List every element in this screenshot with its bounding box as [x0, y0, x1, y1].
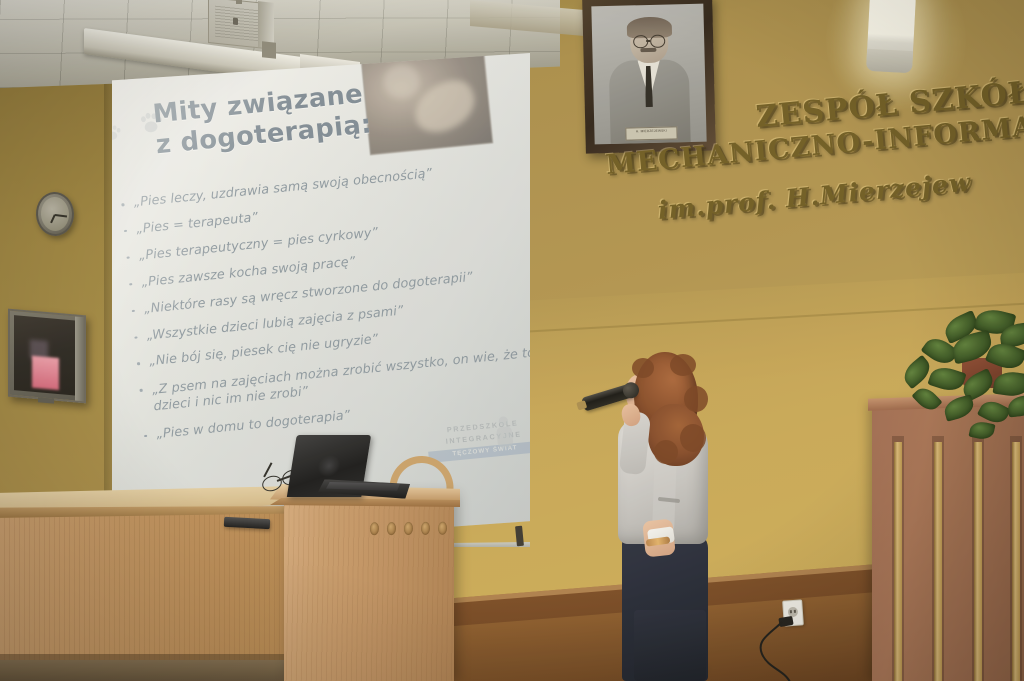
- slide-bullet-list: „Pies leczy, uzdrawia samą swoją obecnoś…: [116, 158, 543, 455]
- monitor-icon: [8, 309, 86, 404]
- counter-base: [0, 660, 294, 681]
- portrait-plaque: H. MIERZEJEWSKI: [626, 127, 678, 141]
- portrait-canvas: H. MIERZEJEWSKI: [591, 4, 706, 145]
- speaker-badge: [233, 18, 238, 26]
- houseplant: [884, 310, 1024, 445]
- monitor-screen: [14, 315, 75, 395]
- lamp-icon: [866, 0, 916, 73]
- power-cable: [740, 612, 810, 681]
- presentation-photo-scene: Mity związane z dogoterapią: „Pies leczy…: [0, 0, 1024, 681]
- screen-mount-bracket: [262, 41, 276, 58]
- wall-left-return: [0, 30, 120, 536]
- portrait-frame: H. MIERZEJEWSKI: [582, 0, 716, 154]
- logo-figure-icon: [491, 415, 518, 458]
- presenter: [596, 352, 732, 681]
- monitor-bezel: [75, 316, 84, 401]
- speaker-mount: [236, 0, 242, 4]
